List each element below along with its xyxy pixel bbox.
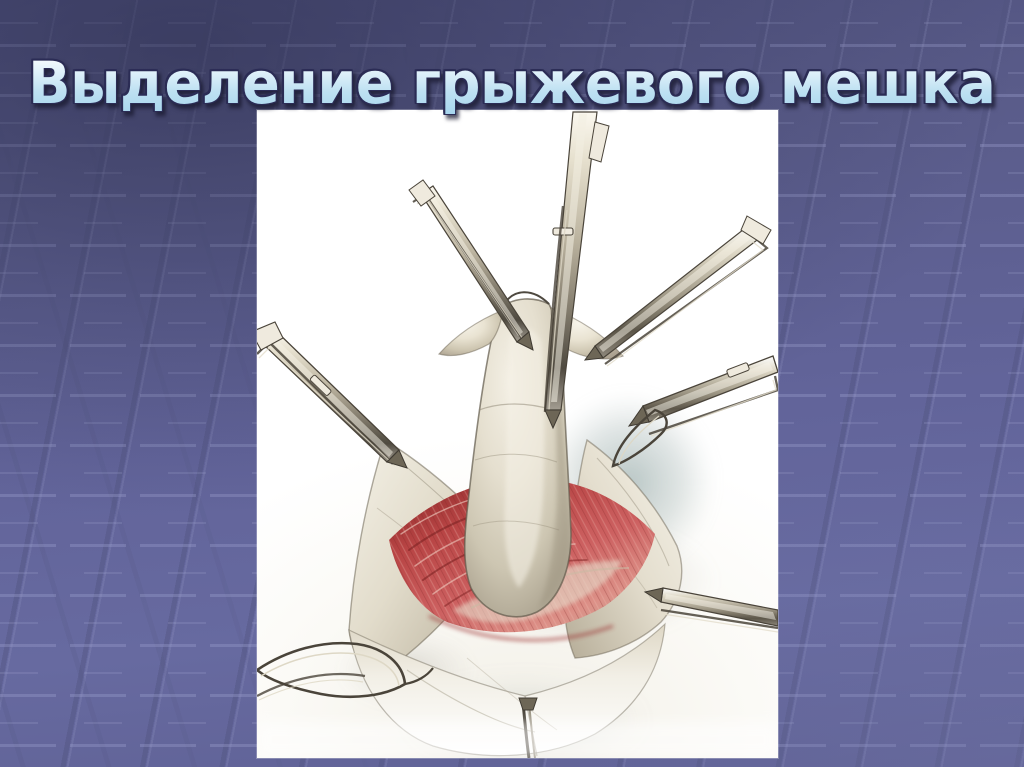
- clamp-upper-right: [585, 216, 771, 366]
- clamp-left: [257, 322, 407, 468]
- title-area: Выделение грыжевого мешка: [0, 14, 1024, 153]
- figure-stage: Хирургическая иллюстрация: выделение гры…: [257, 110, 778, 758]
- slide: Выделение грыжевого мешка Хирургическая …: [0, 0, 1024, 767]
- slide-title: Выделение грыжевого мешка: [28, 53, 995, 114]
- figure-panel: Хирургическая иллюстрация: выделение гры…: [257, 110, 778, 758]
- clamp-upper-left: [409, 180, 533, 350]
- surgical-illustration: Хирургическая иллюстрация: выделение гры…: [257, 110, 778, 758]
- clamp-top: [545, 112, 609, 428]
